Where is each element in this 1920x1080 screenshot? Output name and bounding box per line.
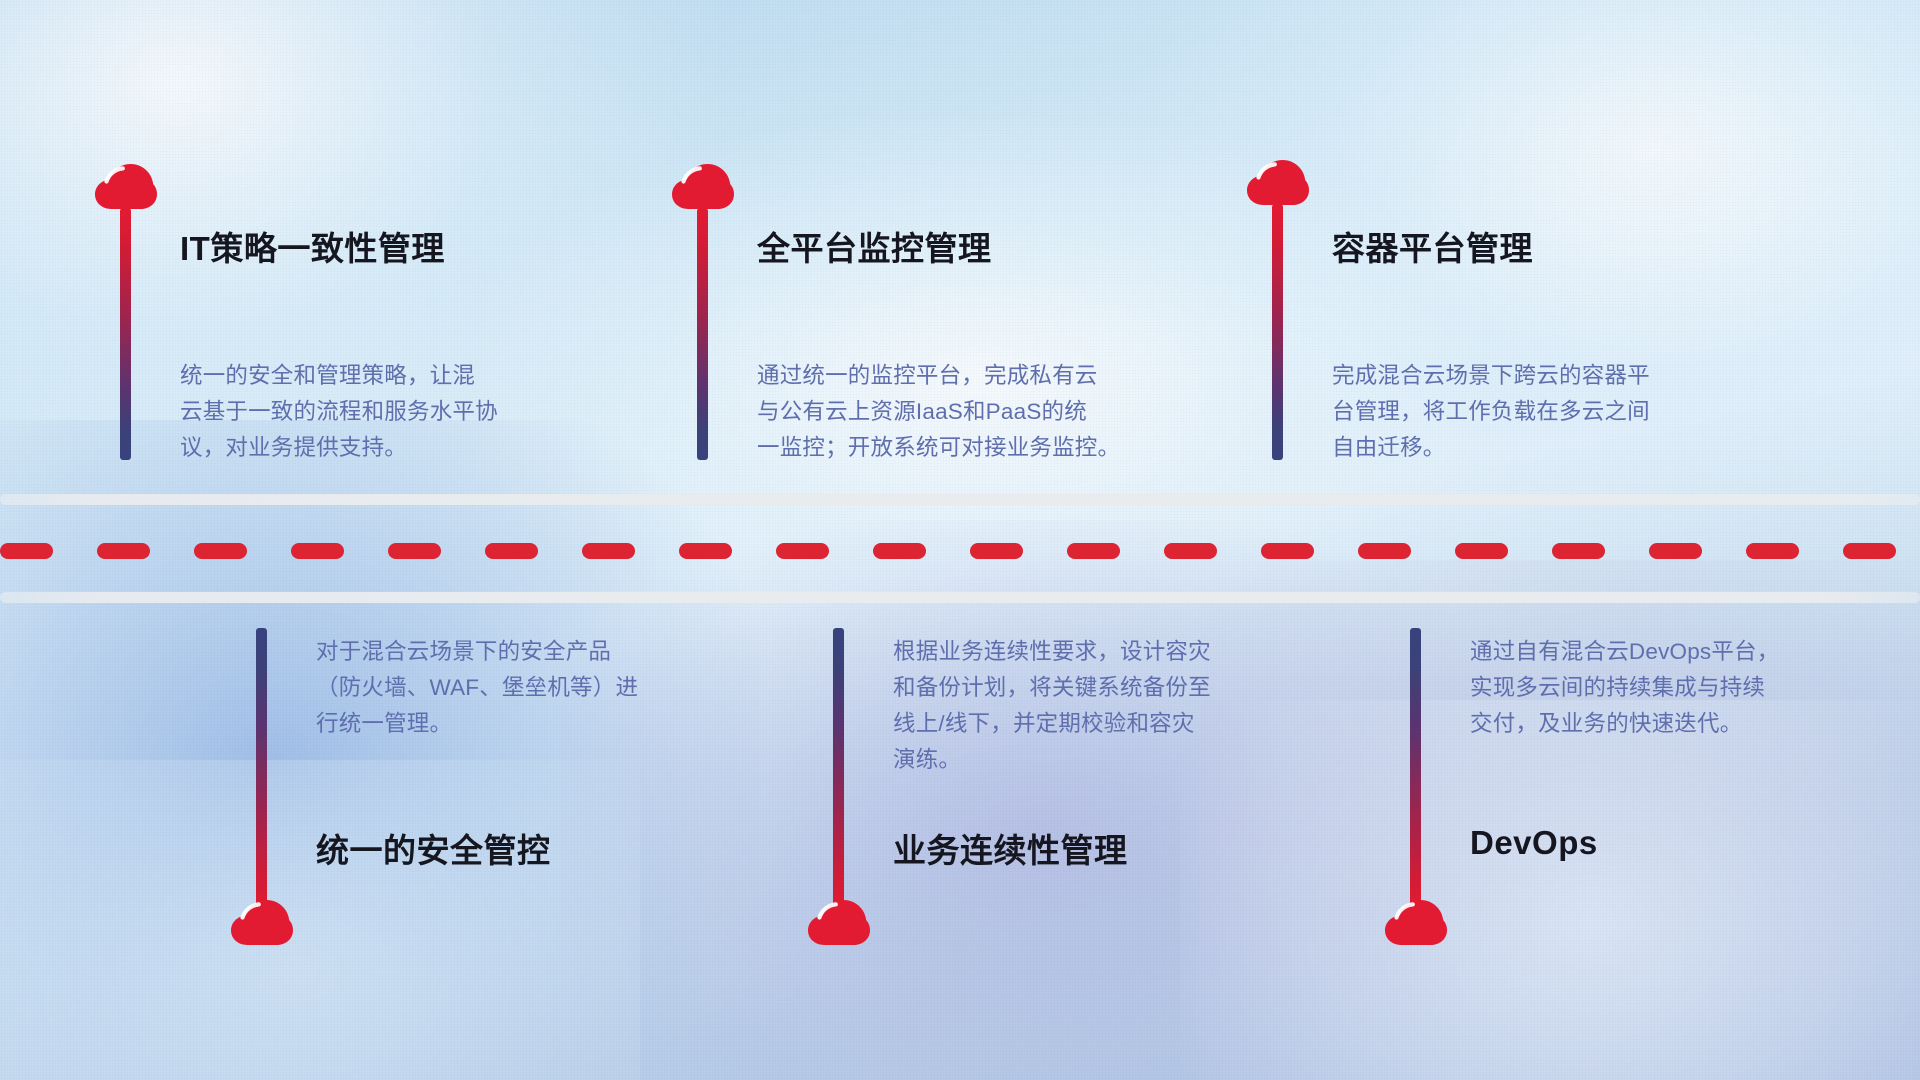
cloud-icon [808,900,870,946]
road-dash-segment [582,543,635,559]
connector-stem [120,208,131,460]
road-dash-segment [970,543,1023,559]
bottom-column-1-title: 统一的安全管控 [316,824,551,872]
road-dashed-center-line [0,543,1920,559]
road-dash-segment [1261,543,1314,559]
cloud-icon [1247,160,1309,206]
connector-stem [1272,204,1283,460]
cloud-icon [1385,900,1447,946]
road-dash-segment [679,543,732,559]
cloud-icon [672,164,734,210]
connector-stem [1410,628,1421,918]
bottom-column-2-title: 业务连续性管理 [893,824,1128,872]
road-edge-top-line [0,494,1920,505]
top-column-3-title: 容器平台管理 [1332,222,1533,270]
road-dash-segment [0,543,53,559]
road-dash-segment [1358,543,1411,559]
road-dash-segment [194,543,247,559]
road-dash-segment [873,543,926,559]
cloud-icon [95,164,157,210]
road-dash-segment [1455,543,1508,559]
road-dash-segment [1746,543,1799,559]
top-column-2-title: 全平台监控管理 [757,222,992,270]
bottom-column-3-body: 通过自有混合云DevOps平台， 实现多云间的持续集成与持续 交付，及业务的快速… [1470,634,1900,742]
connector-stem [256,628,267,918]
bottom-column-3-title: DevOps [1470,824,1598,862]
road-dash-segment [1843,543,1896,559]
cloud-icon [231,900,293,946]
road-dash-segment [485,543,538,559]
road-dash-segment [1649,543,1702,559]
top-column-2-body: 通过统一的监控平台，完成私有云 与公有云上资源IaaS和PaaS的统 一监控；开… [757,358,1217,466]
road-dash-segment [776,543,829,559]
top-column-3-body: 完成混合云场景下跨云的容器平 台管理，将工作负载在多云之间 自由迁移。 [1332,358,1772,466]
road-dash-segment [388,543,441,559]
road-dash-segment [97,543,150,559]
road-dash-segment [1067,543,1120,559]
top-column-1-title: IT策略一致性管理 [180,222,445,270]
road-dash-segment [1552,543,1605,559]
connector-stem [833,628,844,918]
road-dash-segment [1164,543,1217,559]
bottom-column-1-body: 对于混合云场景下的安全产品 （防火墙、WAF、堡垒机等）进 行统一管理。 [316,634,746,742]
road-dash-segment [291,543,344,559]
bottom-column-2-body: 根据业务连续性要求，设计容灾 和备份计划，将关键系统备份至 线上/线下，并定期校… [893,634,1323,778]
connector-stem [697,208,708,460]
top-column-1-body: 统一的安全和管理策略，让混 云基于一致的流程和服务水平协 议，对业务提供支持。 [180,358,610,466]
road-edge-bottom-line [0,592,1920,603]
